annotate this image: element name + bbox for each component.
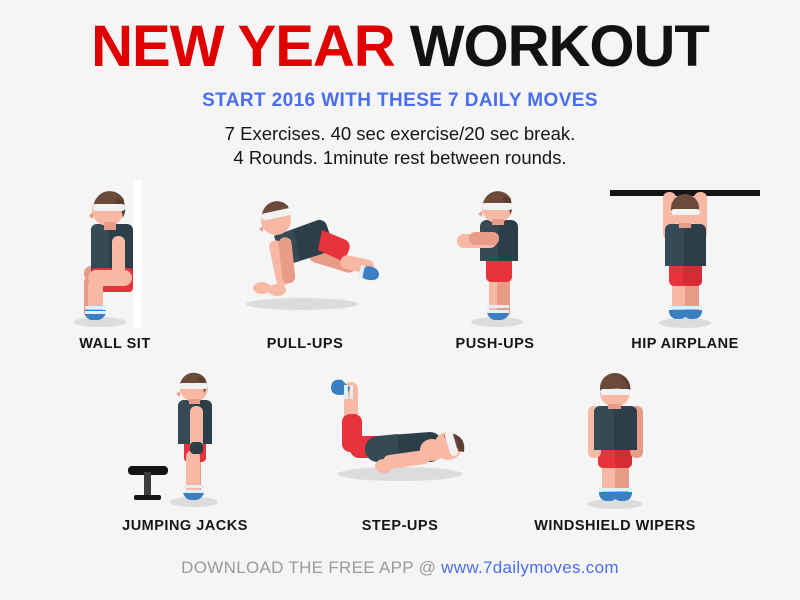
windshield-wipers-illustration [550,362,680,510]
exercise-label-windshield-wipers: WINDSHIELD WIPERS [534,518,696,534]
description: 7 Exercises. 40 sec exercise/20 sec brea… [0,112,800,171]
step-ups-illustration [320,362,480,510]
description-line-2: 4 Rounds. 1minute rest between rounds. [0,146,800,170]
pull-ups-illustration [230,180,380,328]
subtitle: START 2016 WITH THESE 7 DAILY MOVES [0,76,800,112]
exercise-card-wall-sit[interactable]: WALL SIT [20,180,210,352]
exercise-card-windshield-wipers[interactable]: WINDSHIELD WIPERS [505,362,725,534]
description-line-1: 7 Exercises. 40 sec exercise/20 sec brea… [0,122,800,146]
exercise-label-hip-airplane: HIP AIRPLANE [631,336,739,352]
exercise-label-pull-ups: PULL-UPS [267,336,344,352]
step-stool-icon [128,466,168,500]
workout-poster: NEW YEAR WORKOUT START 2016 WITH THESE 7… [0,0,800,600]
push-ups-figure-icon [435,180,555,328]
footer-text: DOWNLOAD THE FREE APP @ [181,558,436,577]
footer: DOWNLOAD THE FREE APP @ www.7dailymoves.… [0,558,800,578]
exercise-card-jumping-jacks[interactable]: JUMPING JACKS [75,362,295,534]
exercise-card-push-ups[interactable]: PUSH-UPS [400,180,590,352]
jumping-jacks-figure-icon [110,362,260,510]
exercise-label-push-ups: PUSH-UPS [456,336,535,352]
push-ups-illustration [435,180,555,328]
exercise-card-pull-ups[interactable]: PULL-UPS [210,180,400,352]
exercise-label-wall-sit: WALL SIT [79,336,150,352]
exercise-row-2: JUMPING JACKS [0,362,800,534]
exercise-label-step-ups: STEP-UPS [362,518,439,534]
wall-sit-figure-icon [50,180,180,328]
pull-ups-figure-icon [230,180,380,328]
wall-sit-illustration [50,180,180,328]
title-red-part: NEW YEAR [91,14,395,79]
exercise-label-jumping-jacks: JUMPING JACKS [122,518,248,534]
exercise-card-step-ups[interactable]: STEP-UPS [295,362,505,534]
exercise-row-1: WALL SIT [0,180,800,352]
exercise-card-hip-airplane[interactable]: HIP AIRPLANE [590,180,780,352]
hip-airplane-figure-icon [605,180,765,328]
step-ups-figure-icon [320,362,480,510]
title-black-part: WORKOUT [410,14,709,79]
page-title: NEW YEAR WORKOUT [0,0,800,76]
hip-airplane-illustration [605,180,765,328]
footer-website-link[interactable]: www.7dailymoves.com [441,558,619,577]
jumping-jacks-illustration [110,362,260,510]
windshield-wipers-figure-icon [550,362,680,510]
